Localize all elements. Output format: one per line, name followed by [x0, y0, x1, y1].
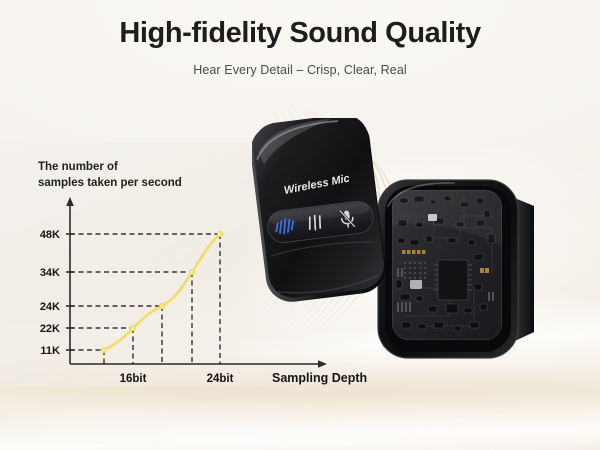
x-axis-title: Sampling Depth	[272, 371, 367, 385]
page-subtitle: Hear Every Detail – Crisp, Clear, Real	[0, 63, 600, 77]
page-title: High-fidelity Sound Quality	[0, 18, 600, 50]
chart-horizontal-guides	[70, 234, 220, 350]
header: High-fidelity Sound Quality Hear Every D…	[0, 18, 600, 77]
page-root: High-fidelity Sound Quality Hear Every D…	[0, 0, 600, 450]
x-tick-label: 24bit	[207, 373, 234, 385]
data-point	[159, 303, 164, 308]
data-point	[130, 325, 135, 330]
y-tick-label: 48K	[40, 229, 60, 241]
device-front-wireless-mic: Wireless Mic	[252, 118, 386, 302]
chart-y-labels: 48K 34K 24K 22K 11K	[40, 229, 60, 357]
data-point	[217, 231, 222, 236]
data-point	[101, 347, 106, 352]
y-tick-label: 22K	[40, 323, 60, 335]
data-point	[189, 269, 194, 274]
y-tick-label: 24K	[40, 301, 60, 313]
y-tick-label: 11K	[40, 345, 60, 357]
device-back-circuit-board	[364, 176, 554, 368]
x-tick-label: 16bit	[120, 373, 147, 385]
y-tick-label: 34K	[40, 267, 60, 279]
